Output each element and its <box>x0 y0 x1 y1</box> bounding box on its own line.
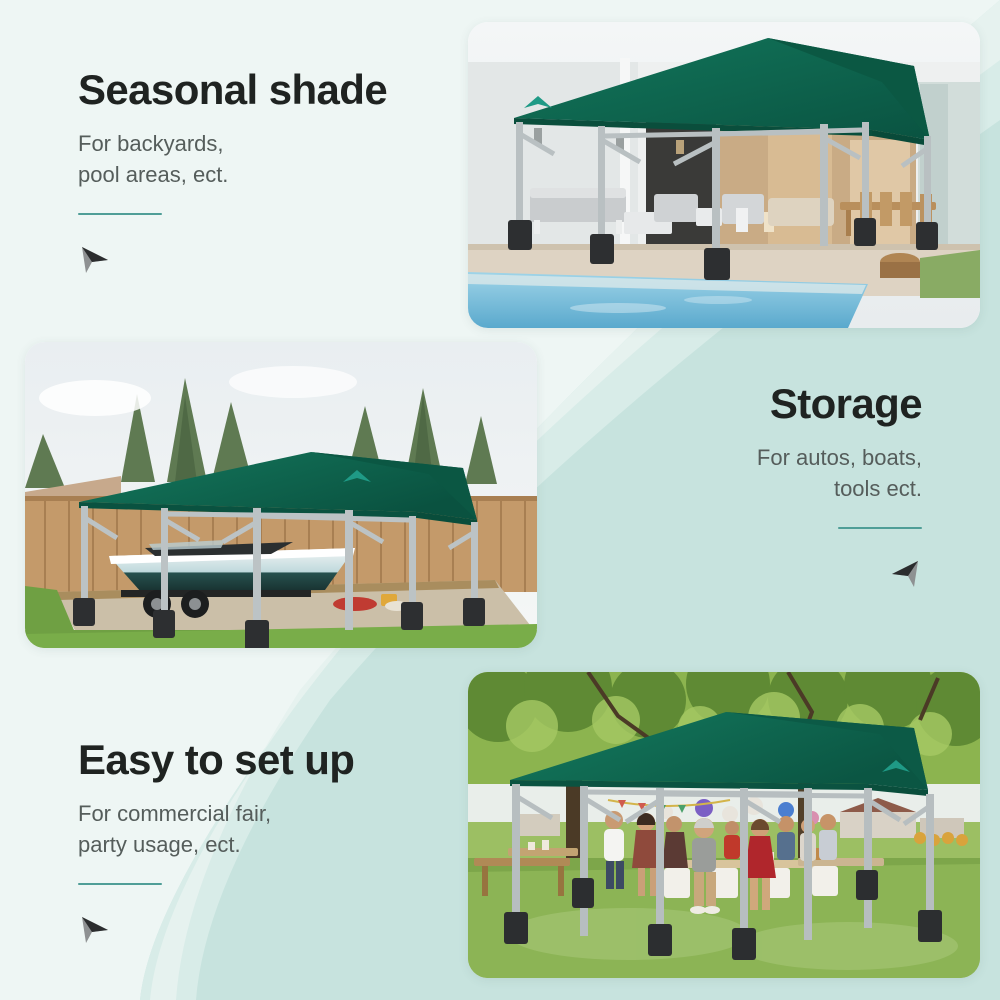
subtitle-storage: For autos, boats, tools ect. <box>757 442 922 504</box>
heading-easy-to-set-up: Easy to set up <box>78 738 354 782</box>
heading-seasonal-shade: Seasonal shade <box>78 68 387 112</box>
subtitle-line: For backyards, <box>78 128 387 159</box>
divider-rule-easy-to-set-up <box>78 883 162 885</box>
photo-card-boat-carport <box>25 342 537 648</box>
subtitle-line: tools ect. <box>757 473 922 504</box>
subtitle-line: pool areas, ect. <box>78 159 387 190</box>
divider-rule-seasonal-shade <box>78 213 162 215</box>
divider-rule-storage <box>838 527 922 529</box>
subtitle-line: For commercial fair, <box>78 798 354 829</box>
heading-storage: Storage <box>757 382 922 426</box>
cursor-arrow-right-icon <box>78 243 112 277</box>
photo-card-poolside-canopy <box>468 22 980 328</box>
subtitle-line: For autos, boats, <box>757 442 922 473</box>
boat-carport-illustration <box>25 342 537 648</box>
cursor-arrow-right-icon <box>78 913 112 947</box>
section-seasonal-shade: Seasonal shade For backyards, pool areas… <box>78 68 387 277</box>
subtitle-easy-to-set-up: For commercial fair, party usage, ect. <box>78 798 354 860</box>
party-canopy-illustration <box>468 672 980 978</box>
poolside-canopy-illustration <box>468 22 980 328</box>
photo-card-party-canopy <box>468 672 980 978</box>
section-storage: Storage For autos, boats, tools ect. <box>757 382 922 591</box>
cursor-arrow-left-icon <box>888 557 922 591</box>
subtitle-line: party usage, ect. <box>78 829 354 860</box>
subtitle-seasonal-shade: For backyards, pool areas, ect. <box>78 128 387 190</box>
section-easy-to-set-up: Easy to set up For commercial fair, part… <box>78 738 354 947</box>
